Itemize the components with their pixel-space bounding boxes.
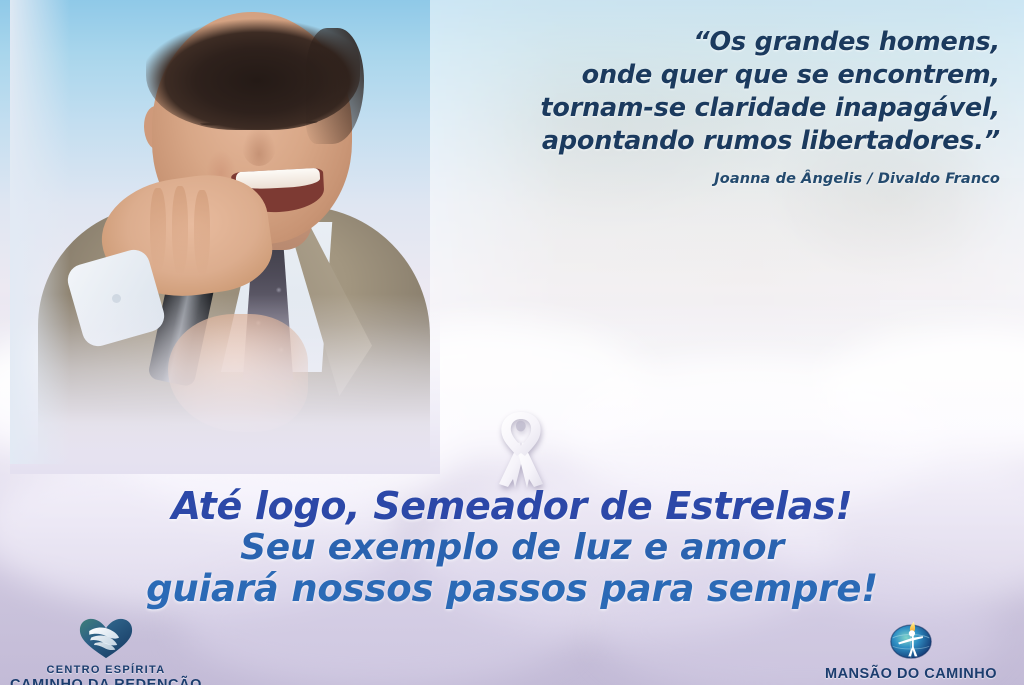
quote-line-2: onde quer que se encontrem,: [430, 59, 1000, 92]
heart-hands-icon: [78, 618, 134, 664]
portrait-hair-side: [306, 28, 364, 144]
background-building: [900, 178, 1024, 248]
portrait-left-fade: [10, 0, 70, 464]
quote-line-1: “Os grandes homens,: [430, 26, 1000, 59]
background-wall: [880, 300, 1024, 326]
logo-centro-espirita: CENTRO ESPÍRITA CAMINHO DA REDENÇÃO: [8, 618, 204, 685]
headline-line-1: Até logo, Semeador de Estrelas!: [0, 486, 1024, 527]
memorial-poster: “Os grandes homens, onde quer que se enc…: [0, 0, 1024, 685]
logo-left-line-2: CAMINHO DA REDENÇÃO: [10, 677, 202, 685]
headline-line-2: Seu exemplo de luz e amor: [0, 527, 1024, 568]
white-ribbon-icon: [486, 408, 556, 490]
portrait-bottom-fade: [10, 294, 440, 474]
quote-text: “Os grandes homens, onde quer que se enc…: [430, 26, 1000, 158]
headline-line-3: guiará nossos passos para sempre!: [0, 568, 1024, 609]
logo-right-text: MANSÃO DO CAMINHO: [825, 665, 997, 682]
quote-line-3: tornam-se claridade inapagável,: [430, 92, 1000, 125]
logo-left-line-1: CENTRO ESPÍRITA: [10, 664, 202, 676]
logo-right-line-2: MANSÃO DO CAMINHO: [825, 666, 997, 682]
portrait-nose: [242, 126, 276, 166]
headline-text: Até logo, Semeador de Estrelas! Seu exem…: [0, 486, 1024, 609]
logo-left-text: CENTRO ESPÍRITA CAMINHO DA REDENÇÃO: [10, 664, 202, 685]
portrait-photo: [10, 0, 440, 464]
globe-figure-flame-icon: [886, 616, 936, 665]
logo-mansao-do-caminho: MANSÃO DO CAMINHO: [806, 616, 1016, 682]
quote-line-4: apontando rumos libertadores.”: [430, 125, 1000, 158]
quote-attribution: Joanna de Ângelis / Divaldo Franco: [430, 171, 1000, 187]
